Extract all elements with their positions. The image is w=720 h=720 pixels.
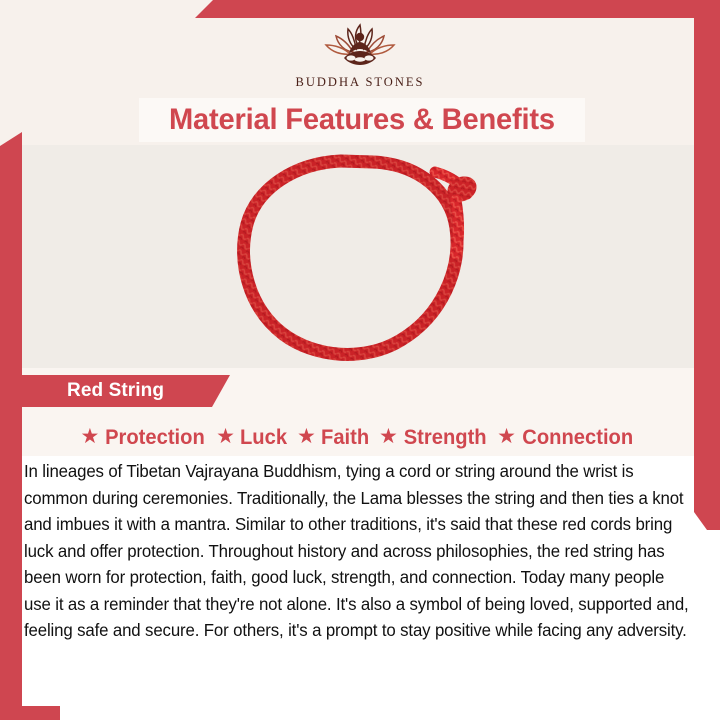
star-icon: ★ bbox=[379, 426, 398, 447]
benefits-list: ★ Protection ★ Luck ★ Faith ★ Strength ★… bbox=[22, 419, 694, 455]
product-label-tag: Red String bbox=[22, 375, 230, 407]
red-braided-string-bracelet-image bbox=[223, 150, 493, 365]
benefit-label: Luck bbox=[240, 427, 287, 448]
page-title-band: Material Features & Benefits bbox=[139, 98, 585, 142]
star-icon: ★ bbox=[497, 426, 516, 447]
benefit-label: Strength bbox=[404, 427, 487, 448]
bracelet-knot-strand bbox=[456, 200, 459, 254]
benefit-label: Faith bbox=[321, 427, 369, 448]
bracelet-loop-shade bbox=[244, 161, 457, 354]
star-icon: ★ bbox=[297, 426, 316, 447]
brand-header: BUDDHA STONES bbox=[0, 18, 720, 96]
star-icon: ★ bbox=[216, 426, 235, 447]
benefit-item: ★ Strength bbox=[379, 427, 488, 448]
page-title: Material Features & Benefits bbox=[169, 105, 555, 135]
infographic-page: BUDDHA STONES Material Features & Benefi… bbox=[0, 0, 720, 720]
brand-name: BUDDHA STONES bbox=[296, 75, 425, 90]
decor-left-band bbox=[0, 132, 22, 720]
benefit-item: ★ Protection bbox=[81, 427, 208, 448]
benefit-item: ★ Faith bbox=[297, 427, 370, 448]
description-text: In lineages of Tibetan Vajrayana Buddhis… bbox=[24, 459, 690, 645]
benefit-item: ★ Connection bbox=[497, 427, 635, 448]
product-label-text: Red String bbox=[22, 380, 164, 402]
product-image-panel bbox=[22, 145, 694, 370]
benefit-item: ★ Luck bbox=[216, 427, 288, 448]
benefit-label: Connection bbox=[522, 427, 633, 448]
benefit-label: Protection bbox=[105, 427, 205, 448]
decor-top-right-bar bbox=[195, 0, 720, 18]
star-icon: ★ bbox=[81, 426, 100, 447]
lotus-meditating-figure-icon bbox=[318, 18, 402, 74]
decor-bottom-left-bar bbox=[0, 706, 60, 720]
